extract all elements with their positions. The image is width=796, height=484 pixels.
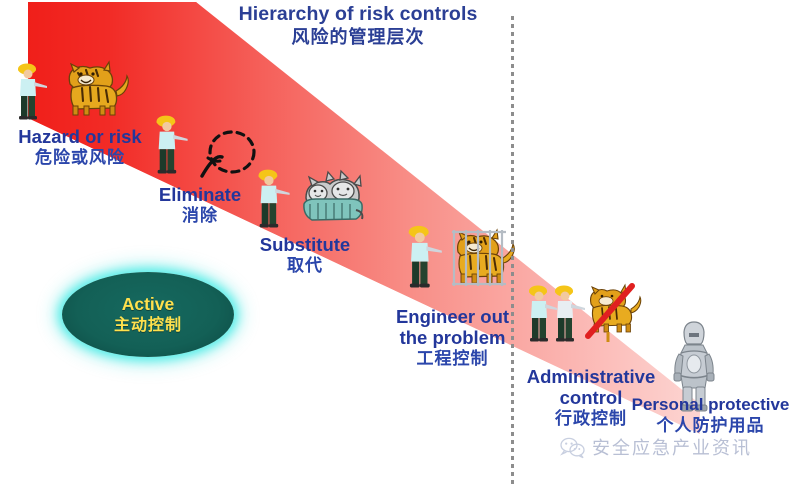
page-title-en: Hierarchy of risk controls [208, 2, 508, 26]
active-control-badge: Active 主动控制 [62, 272, 234, 357]
stage-label-engineer-zh: 工程控制 [385, 348, 520, 369]
wechat-icon [560, 437, 586, 458]
stage-label-engineer-en-line2: the problem [385, 327, 520, 348]
stage-label-substitute-en: Substitute [230, 234, 380, 255]
page-title: Hierarchy of risk controls 风险的管理层次 [208, 2, 508, 49]
stage-label-administrative-en-line1: Administrative [515, 366, 667, 387]
page-title-zh: 风险的管理层次 [208, 26, 508, 49]
stage-label-ppe: Personal protective 个人防护用品 [625, 394, 796, 436]
watermark-text: 安全应急产业资讯 [592, 434, 752, 460]
kittens-icon [296, 164, 366, 226]
stage-label-substitute-zh: 取代 [230, 255, 380, 276]
worker-figure-substitute [250, 166, 292, 228]
stage-label-eliminate-zh: 消除 [130, 205, 270, 226]
tiger-prohibited-icon [578, 282, 640, 346]
stage-label-hazard-en: Hazard or risk [0, 126, 160, 147]
stage-label-eliminate-en: Eliminate [130, 184, 270, 205]
caged-tiger-icon [442, 226, 514, 294]
active-passive-divider [511, 16, 514, 484]
stage-label-hazard-zh: 危险或风险 [0, 147, 160, 168]
active-control-badge-en: Active [122, 294, 175, 315]
stage-label-ppe-zh: 个人防护用品 [625, 415, 796, 436]
tiger-loose-icon [52, 58, 132, 116]
stage-label-engineer: Engineer out the problem 工程控制 [385, 306, 520, 369]
stage-label-substitute: Substitute 取代 [230, 234, 380, 276]
watermark: 安全应急产业资讯 [560, 434, 752, 460]
stage-label-eliminate: Eliminate 消除 [130, 184, 270, 226]
diagram-canvas: Hazard or risk 危险或风险 Eliminate 消除 [0, 0, 796, 484]
stage-label-hazard: Hazard or risk 危险或风险 [0, 126, 160, 168]
active-control-badge-zh: 主动控制 [114, 315, 182, 336]
stage-label-ppe-en: Personal protective [625, 394, 796, 415]
stage-label-engineer-en-line1: Engineer out [385, 306, 520, 327]
worker-figure-eliminate [148, 112, 190, 174]
worker-figure-hazard [10, 60, 50, 120]
worker-figure-engineer [400, 222, 444, 288]
